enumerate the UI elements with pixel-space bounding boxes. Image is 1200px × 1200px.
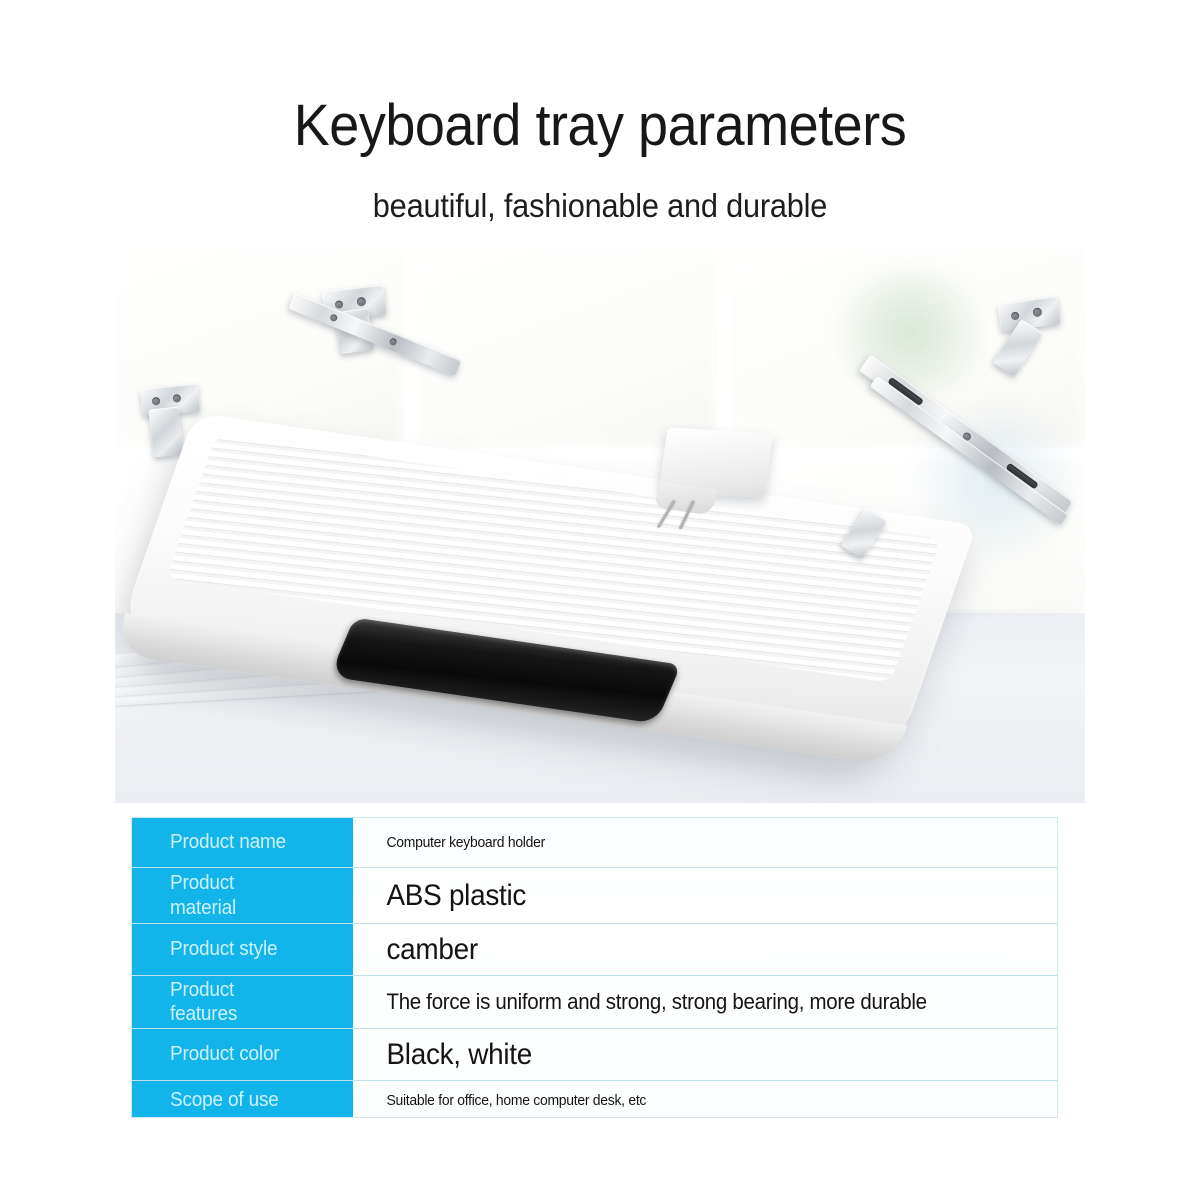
spec-value: camber bbox=[353, 933, 1008, 967]
page-subtitle: beautiful, fashionable and durable bbox=[42, 187, 1158, 225]
table-row: Scope of use Suitable for office, home c… bbox=[132, 1081, 1057, 1119]
spec-table-rows: Product name Computer keyboard holder Pr… bbox=[132, 818, 1057, 1117]
bracket-leg bbox=[149, 407, 184, 458]
bracket-screw-hole bbox=[356, 297, 366, 307]
spec-label: Product name bbox=[132, 830, 342, 854]
table-row: Product features The force is uniform an… bbox=[132, 976, 1057, 1029]
table-row: Product material ABS plastic bbox=[132, 868, 1057, 924]
header: Keyboard tray parameters beautiful, fash… bbox=[0, 96, 1200, 225]
rail-hole bbox=[329, 313, 338, 322]
page-title: Keyboard tray parameters bbox=[42, 96, 1158, 157]
product-photo bbox=[115, 248, 1085, 803]
bracket-screw-hole bbox=[1011, 311, 1020, 320]
spec-value: Computer keyboard holder bbox=[353, 834, 1008, 851]
bracket-screw-hole bbox=[173, 394, 182, 403]
spec-label: Product material bbox=[132, 871, 342, 920]
spec-label: Product features bbox=[132, 978, 342, 1027]
bracket-screw-hole bbox=[335, 300, 344, 309]
table-row: Product color Black, white bbox=[132, 1029, 1057, 1081]
spec-value: ABS plastic bbox=[353, 879, 1008, 913]
slide-rail-right-inner bbox=[870, 376, 1069, 525]
spec-label: Product color bbox=[132, 1042, 342, 1066]
keyboard-tray-assembly bbox=[115, 248, 1085, 803]
spec-value: The force is uniform and strong, strong … bbox=[353, 989, 1008, 1015]
spec-table: Product name Computer keyboard holder Pr… bbox=[131, 817, 1058, 1118]
spec-label: Scope of use bbox=[132, 1088, 342, 1112]
keyboard-tray bbox=[115, 413, 977, 766]
bracket-screw-hole bbox=[152, 397, 161, 406]
spec-value: Black, white bbox=[353, 1038, 1008, 1072]
infographic-page: Keyboard tray parameters beautiful, fash… bbox=[0, 0, 1200, 1200]
bracket-screw-hole bbox=[1032, 307, 1042, 317]
rail-hole bbox=[389, 337, 398, 346]
table-row: Product style camber bbox=[132, 924, 1057, 976]
spec-value: Suitable for office, home computer desk,… bbox=[353, 1092, 1008, 1109]
slide-rail-right bbox=[859, 354, 1073, 517]
table-row: Product name Computer keyboard holder bbox=[132, 818, 1057, 868]
spec-label: Product style bbox=[132, 937, 342, 961]
